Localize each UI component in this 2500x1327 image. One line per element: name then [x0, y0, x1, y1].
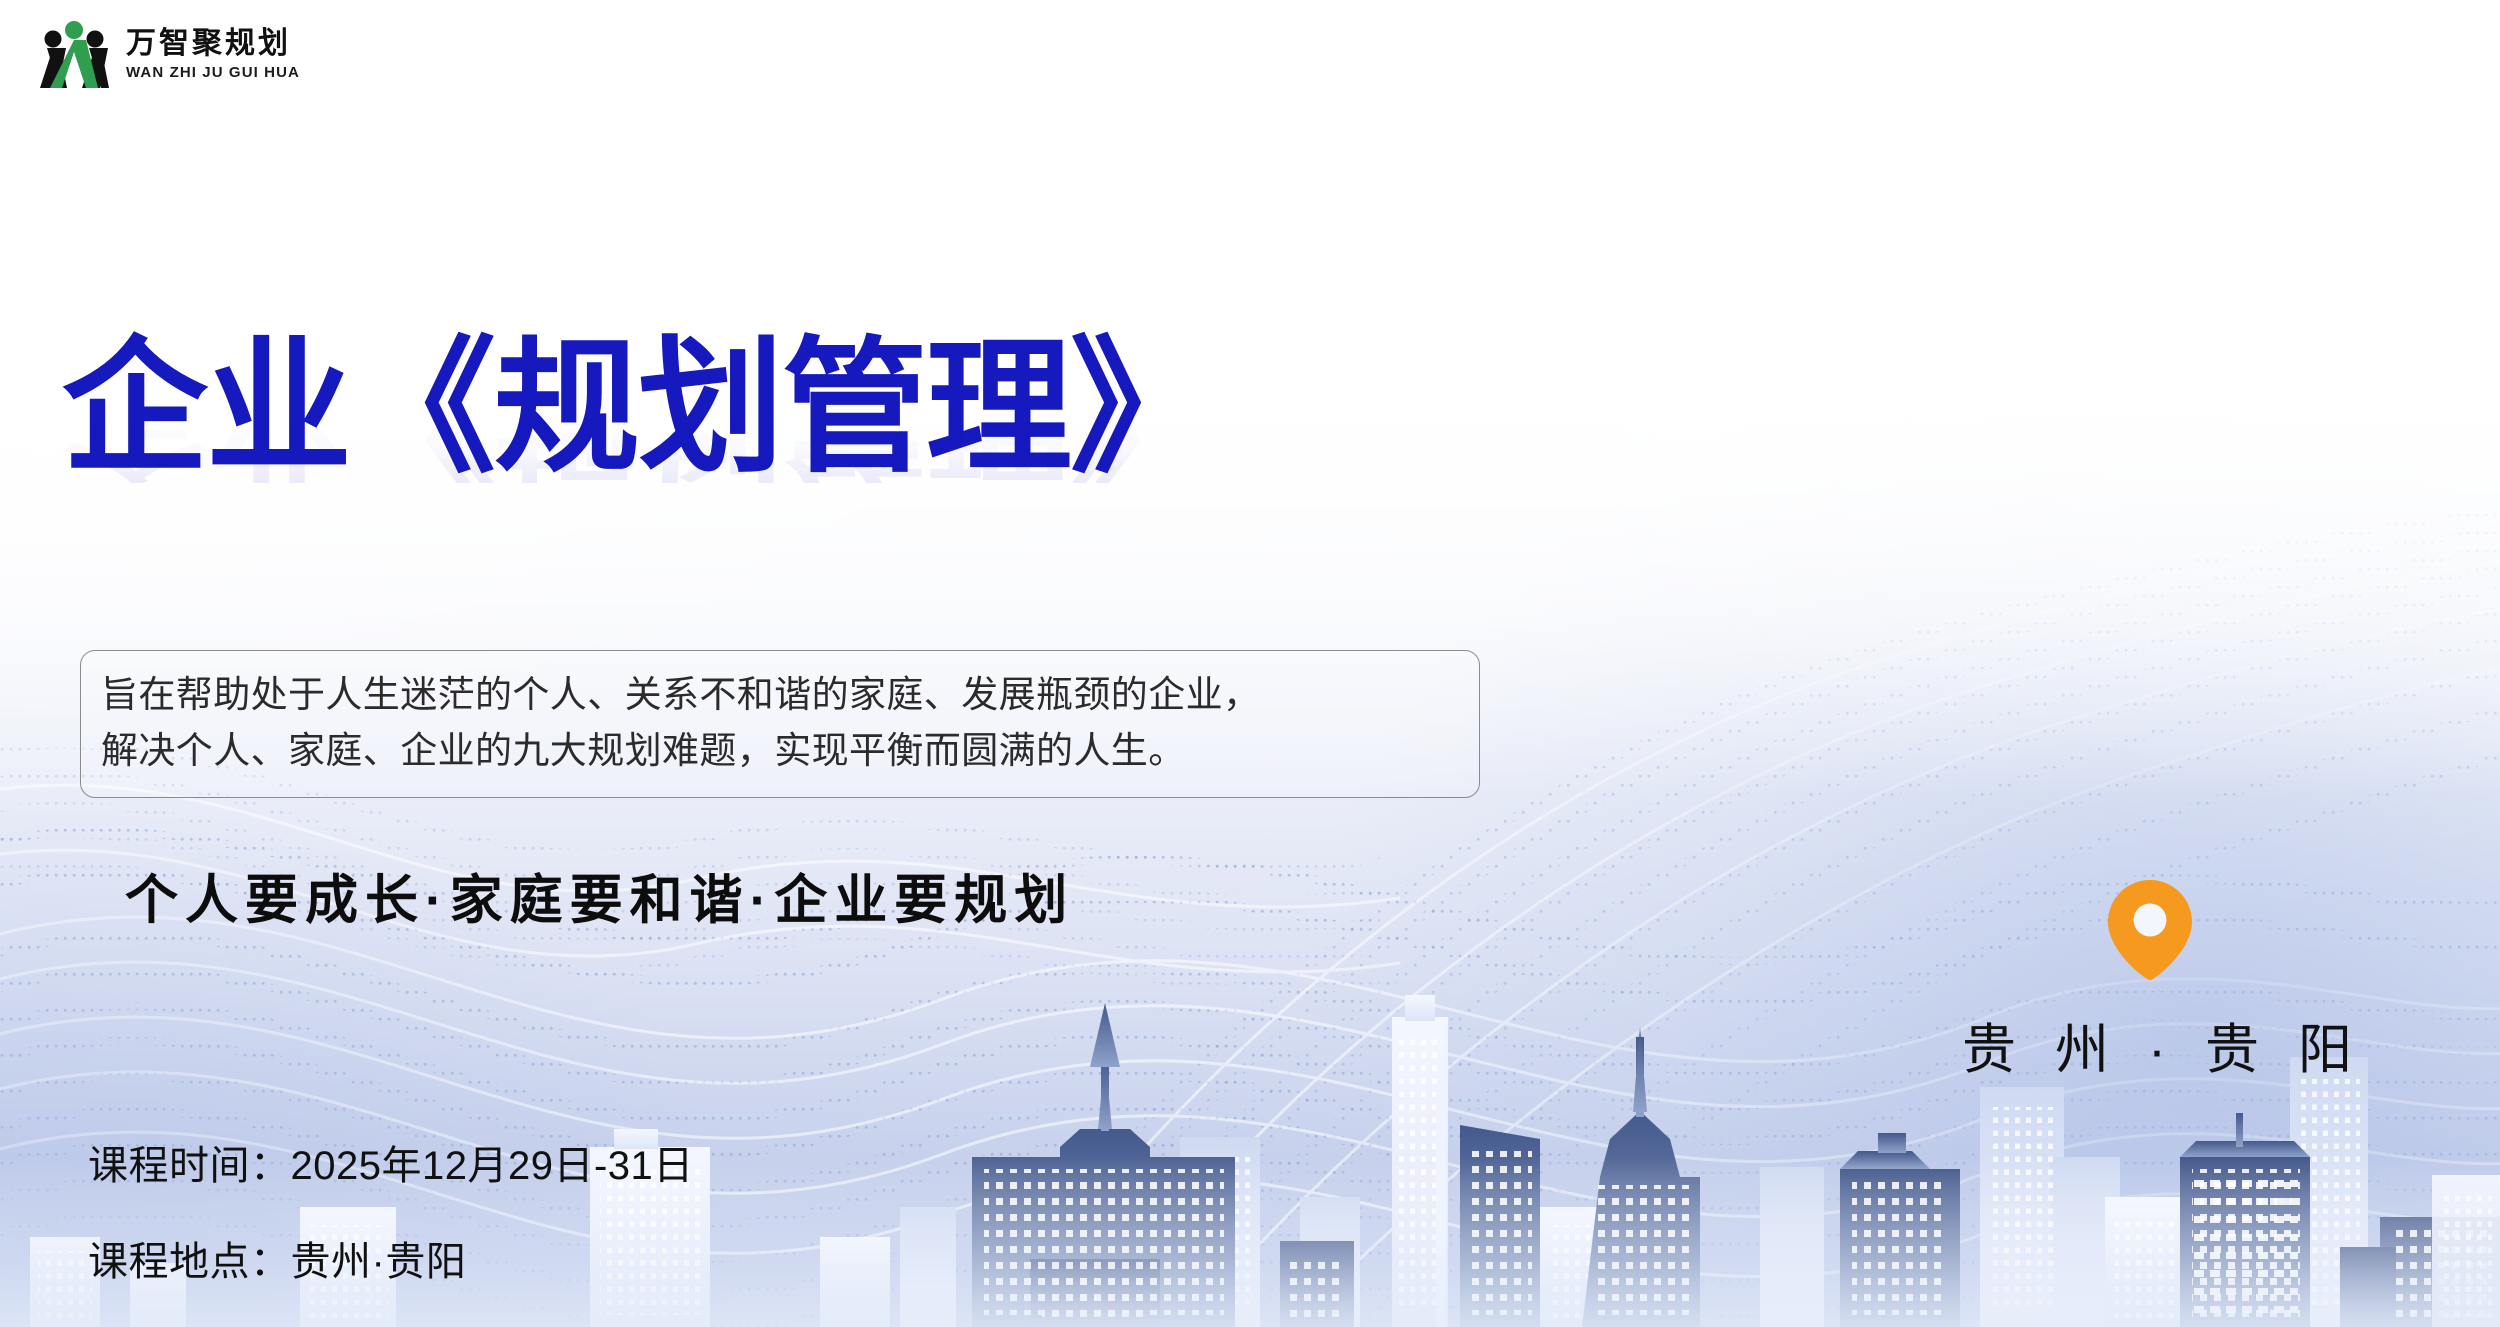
course-time: 课程时间：2025年12月29日-31日	[88, 1133, 694, 1191]
hero-title-block: 企业《规划管理》 企业《规划管理》	[62, 335, 1214, 629]
poster-canvas: 万智聚规划 WAN ZHI JU GUI HUA 企业《规划管理》 企业《规划管…	[0, 0, 2500, 1327]
course-place: 课程地点：贵州·贵阳	[88, 1229, 694, 1287]
course-info-block: 课程时间：2025年12月29日-31日 课程地点：贵州·贵阳	[88, 1133, 694, 1287]
brand-logo: 万智聚规划 WAN ZHI JU GUI HUA	[36, 18, 300, 90]
location-block: 贵 州 · 贵 阳	[1950, 878, 2350, 1084]
map-pin-icon	[2104, 878, 2196, 982]
three-people-logo-icon	[36, 18, 112, 90]
slogan-text: 个人要成长·家庭要和谐·企业要规划	[125, 858, 1074, 934]
page-title-reflection: 企业《规划管理》	[62, 392, 1214, 483]
city-label: 贵 州 · 贵 阳	[1962, 1005, 2350, 1084]
brand-name-en: WAN ZHI JU GUI HUA	[126, 64, 300, 81]
description-box: 旨在帮助处于人生迷茫的个人、关系不和谐的家庭、发展瓶颈的企业， 解决个人、家庭、…	[80, 650, 1480, 798]
description-line-2: 解决个人、家庭、企业的九大规划难题，实现平衡而圆满的人生。	[101, 723, 1459, 779]
description-line-1: 旨在帮助处于人生迷茫的个人、关系不和谐的家庭、发展瓶颈的企业，	[101, 667, 1459, 723]
brand-name-cn: 万智聚规划	[126, 27, 300, 61]
